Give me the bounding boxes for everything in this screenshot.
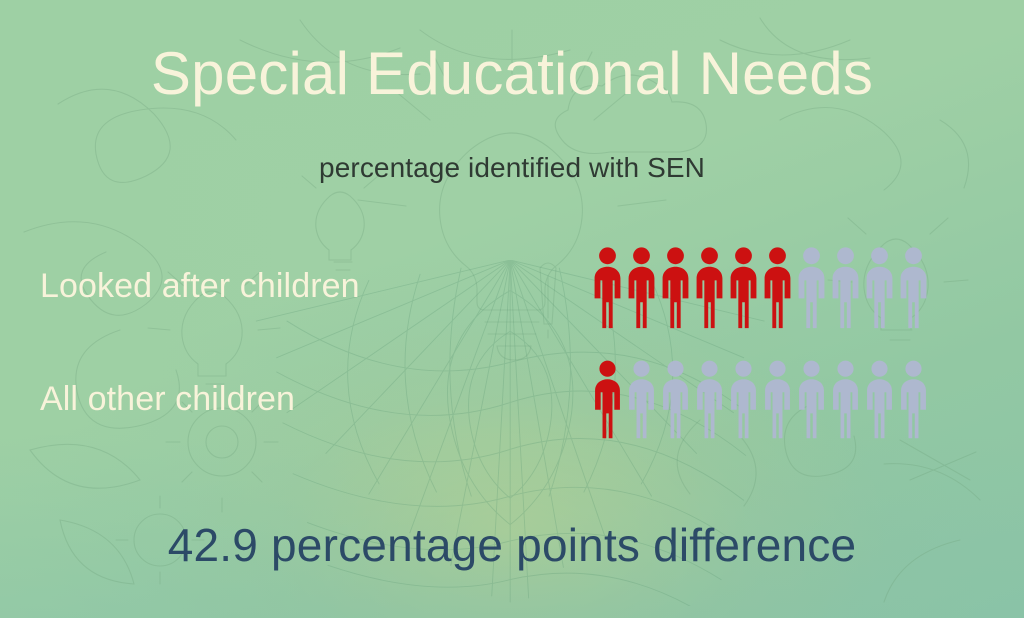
person-icon-muted [830, 240, 861, 332]
person-icon-muted [898, 360, 929, 442]
person-icon-highlighted [728, 240, 759, 332]
person-icon-muted [762, 360, 793, 442]
person-icon-muted [864, 240, 895, 332]
icon-strip-looked-after-children [592, 240, 929, 332]
person-icon-muted [830, 360, 861, 442]
page-subtitle: percentage identified with SEN [0, 152, 1024, 184]
icon-strip-all-other-children [592, 360, 929, 442]
person-icon-muted [728, 360, 759, 442]
row-label-looked-after-children: Looked after children [40, 267, 360, 306]
person-icon-muted [694, 360, 725, 442]
person-icon-muted [796, 360, 827, 442]
row-label-all-other-children: All other children [40, 380, 295, 419]
person-icon-highlighted [762, 240, 793, 332]
person-icon-muted [660, 360, 691, 442]
infographic-slide: Special Educational Needs percentage ide… [0, 0, 1024, 618]
person-icon-highlighted [660, 240, 691, 332]
person-icon-muted [864, 360, 895, 442]
difference-statistic: 42.9 percentage points difference [0, 518, 1024, 572]
person-icon-muted [626, 360, 657, 442]
person-icon-muted [796, 240, 827, 332]
person-icon-highlighted [626, 240, 657, 332]
person-icon-highlighted [592, 360, 623, 442]
page-title: Special Educational Needs [0, 42, 1024, 105]
person-icon-highlighted [592, 240, 623, 332]
pictogram-row-all-other-children: All other children [0, 356, 1024, 442]
person-icon-muted [898, 240, 929, 332]
person-icon-highlighted [694, 240, 725, 332]
pictogram-row-looked-after-children: Looked after children [0, 238, 1024, 334]
